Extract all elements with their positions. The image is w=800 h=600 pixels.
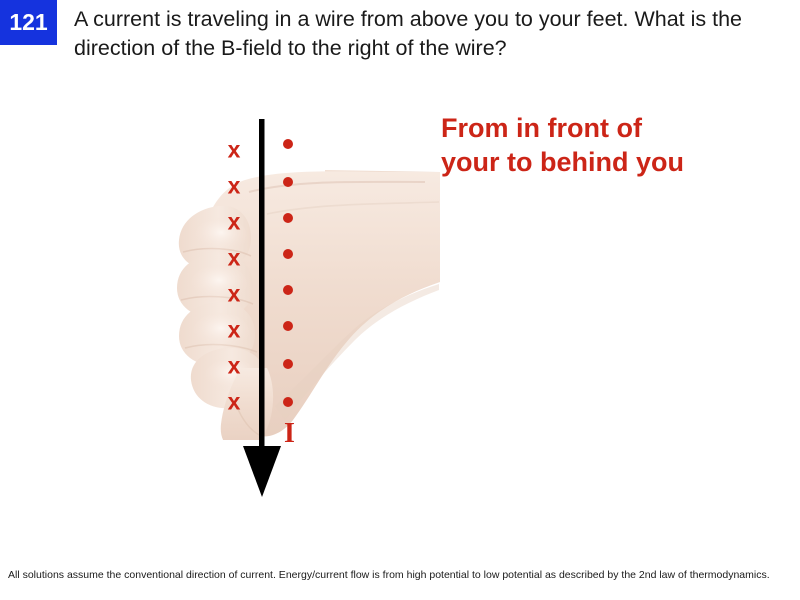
question-number-badge: 121 xyxy=(0,0,57,45)
question-number-label: 121 xyxy=(9,9,47,36)
question-text: A current is traveling in a wire from ab… xyxy=(74,5,786,63)
field-into-page-symbol: x xyxy=(214,247,254,270)
slide-header: 121 A current is traveling in a wire fro… xyxy=(0,0,800,75)
field-into-page-symbol: x xyxy=(214,391,254,414)
footer-note: All solutions assume the conventional di… xyxy=(8,568,792,582)
field-out-of-page-symbol xyxy=(283,249,293,259)
field-out-of-page-symbol xyxy=(283,359,293,369)
field-into-page-symbol: x xyxy=(214,211,254,234)
field-out-of-page-column xyxy=(268,75,308,545)
field-into-page-symbol: x xyxy=(214,175,254,198)
field-into-page-symbol: x xyxy=(214,283,254,306)
diagram-stage: From in front of your to behind you xyxy=(0,75,800,545)
field-out-of-page-symbol xyxy=(283,321,293,331)
answer-text: From in front of your to behind you xyxy=(441,111,781,179)
field-out-of-page-symbol xyxy=(283,177,293,187)
field-out-of-page-symbol xyxy=(283,139,293,149)
field-into-page-symbol: x xyxy=(214,319,254,342)
field-out-of-page-symbol xyxy=(283,285,293,295)
field-into-page-symbol: x xyxy=(214,139,254,162)
current-label: I xyxy=(284,420,295,448)
field-out-of-page-symbol xyxy=(283,397,293,407)
field-into-page-column: xxxxxxxx xyxy=(214,75,254,545)
answer-line-1: From in front of xyxy=(441,111,781,145)
answer-line-2: your to behind you xyxy=(441,145,781,179)
field-into-page-symbol: x xyxy=(214,355,254,378)
field-out-of-page-symbol xyxy=(283,213,293,223)
